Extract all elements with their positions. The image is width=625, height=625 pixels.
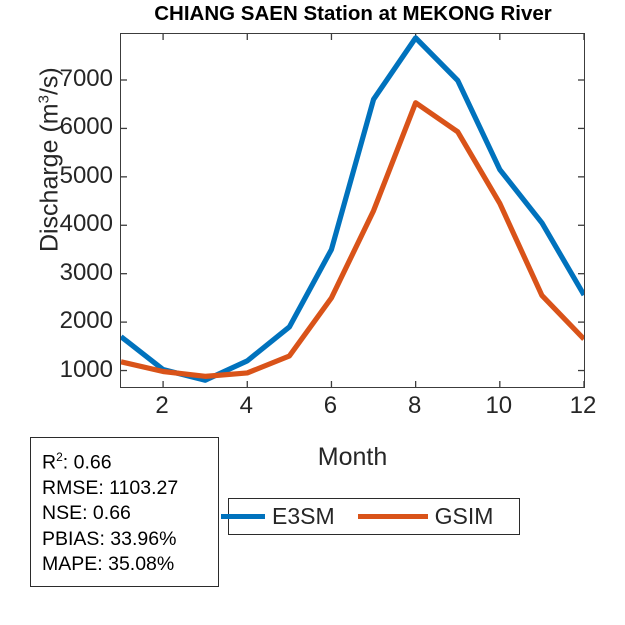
plot-svg xyxy=(121,34,584,387)
y-axis-tick-label: 4000 xyxy=(60,210,113,238)
y-axis-tick-label: 5000 xyxy=(60,162,113,190)
y-axis-tick-label: 2000 xyxy=(60,307,113,335)
chart-legend[interactable]: E3SM GSIM xyxy=(228,498,520,535)
legend-color-swatch-gsim xyxy=(358,514,428,519)
legend-label-e3sm: E3SM xyxy=(272,503,335,530)
legend-color-swatch-e3sm xyxy=(221,514,265,519)
stat-r2-label: R xyxy=(42,452,56,474)
legend-entry-gsim[interactable]: GSIM xyxy=(358,503,494,530)
legend-entry-e3sm[interactable]: E3SM xyxy=(221,503,335,530)
chart-figure: CHIANG SAEN Station at MEKONG River Disc… xyxy=(0,0,625,625)
data-line-gsim xyxy=(121,103,584,377)
y-axis-tick-labels: 1000200030004000500060007000 xyxy=(0,0,118,420)
stat-mape: MAPE: 35.08% xyxy=(42,552,218,577)
x-axis-tick-label: 6 xyxy=(324,392,337,420)
chart-title: CHIANG SAEN Station at MEKONG River xyxy=(118,2,588,26)
axis-ticks xyxy=(121,34,584,387)
x-axis-title: Month xyxy=(235,443,470,472)
stat-nse: NSE: 0.66 xyxy=(42,501,218,526)
data-series-group xyxy=(121,38,584,380)
plot-area xyxy=(120,33,585,388)
stat-r2-value: : 0.66 xyxy=(63,452,112,474)
y-axis-tick-label: 3000 xyxy=(60,259,113,287)
stat-pbias: PBIAS: 33.96% xyxy=(42,527,218,552)
statistics-box: R2: 0.66 RMSE: 1103.27 NSE: 0.66 PBIAS: … xyxy=(30,437,219,587)
y-axis-tick-label: 1000 xyxy=(60,356,113,384)
data-line-e3sm xyxy=(121,38,584,380)
x-axis-tick-label: 12 xyxy=(570,392,597,420)
x-axis-tick-label: 4 xyxy=(240,392,253,420)
x-axis-tick-label: 8 xyxy=(408,392,421,420)
x-axis-tick-label: 2 xyxy=(155,392,168,420)
legend-label-gsim: GSIM xyxy=(435,503,494,530)
stat-r2: R2: 0.66 xyxy=(42,445,218,476)
stat-r2-exponent: 2 xyxy=(56,450,63,464)
y-axis-tick-label: 7000 xyxy=(60,65,113,93)
y-axis-tick-label: 6000 xyxy=(60,113,113,141)
x-axis-tick-labels: 24681012 xyxy=(0,392,625,432)
x-axis-tick-label: 10 xyxy=(485,392,512,420)
stat-rmse: RMSE: 1103.27 xyxy=(42,476,218,501)
